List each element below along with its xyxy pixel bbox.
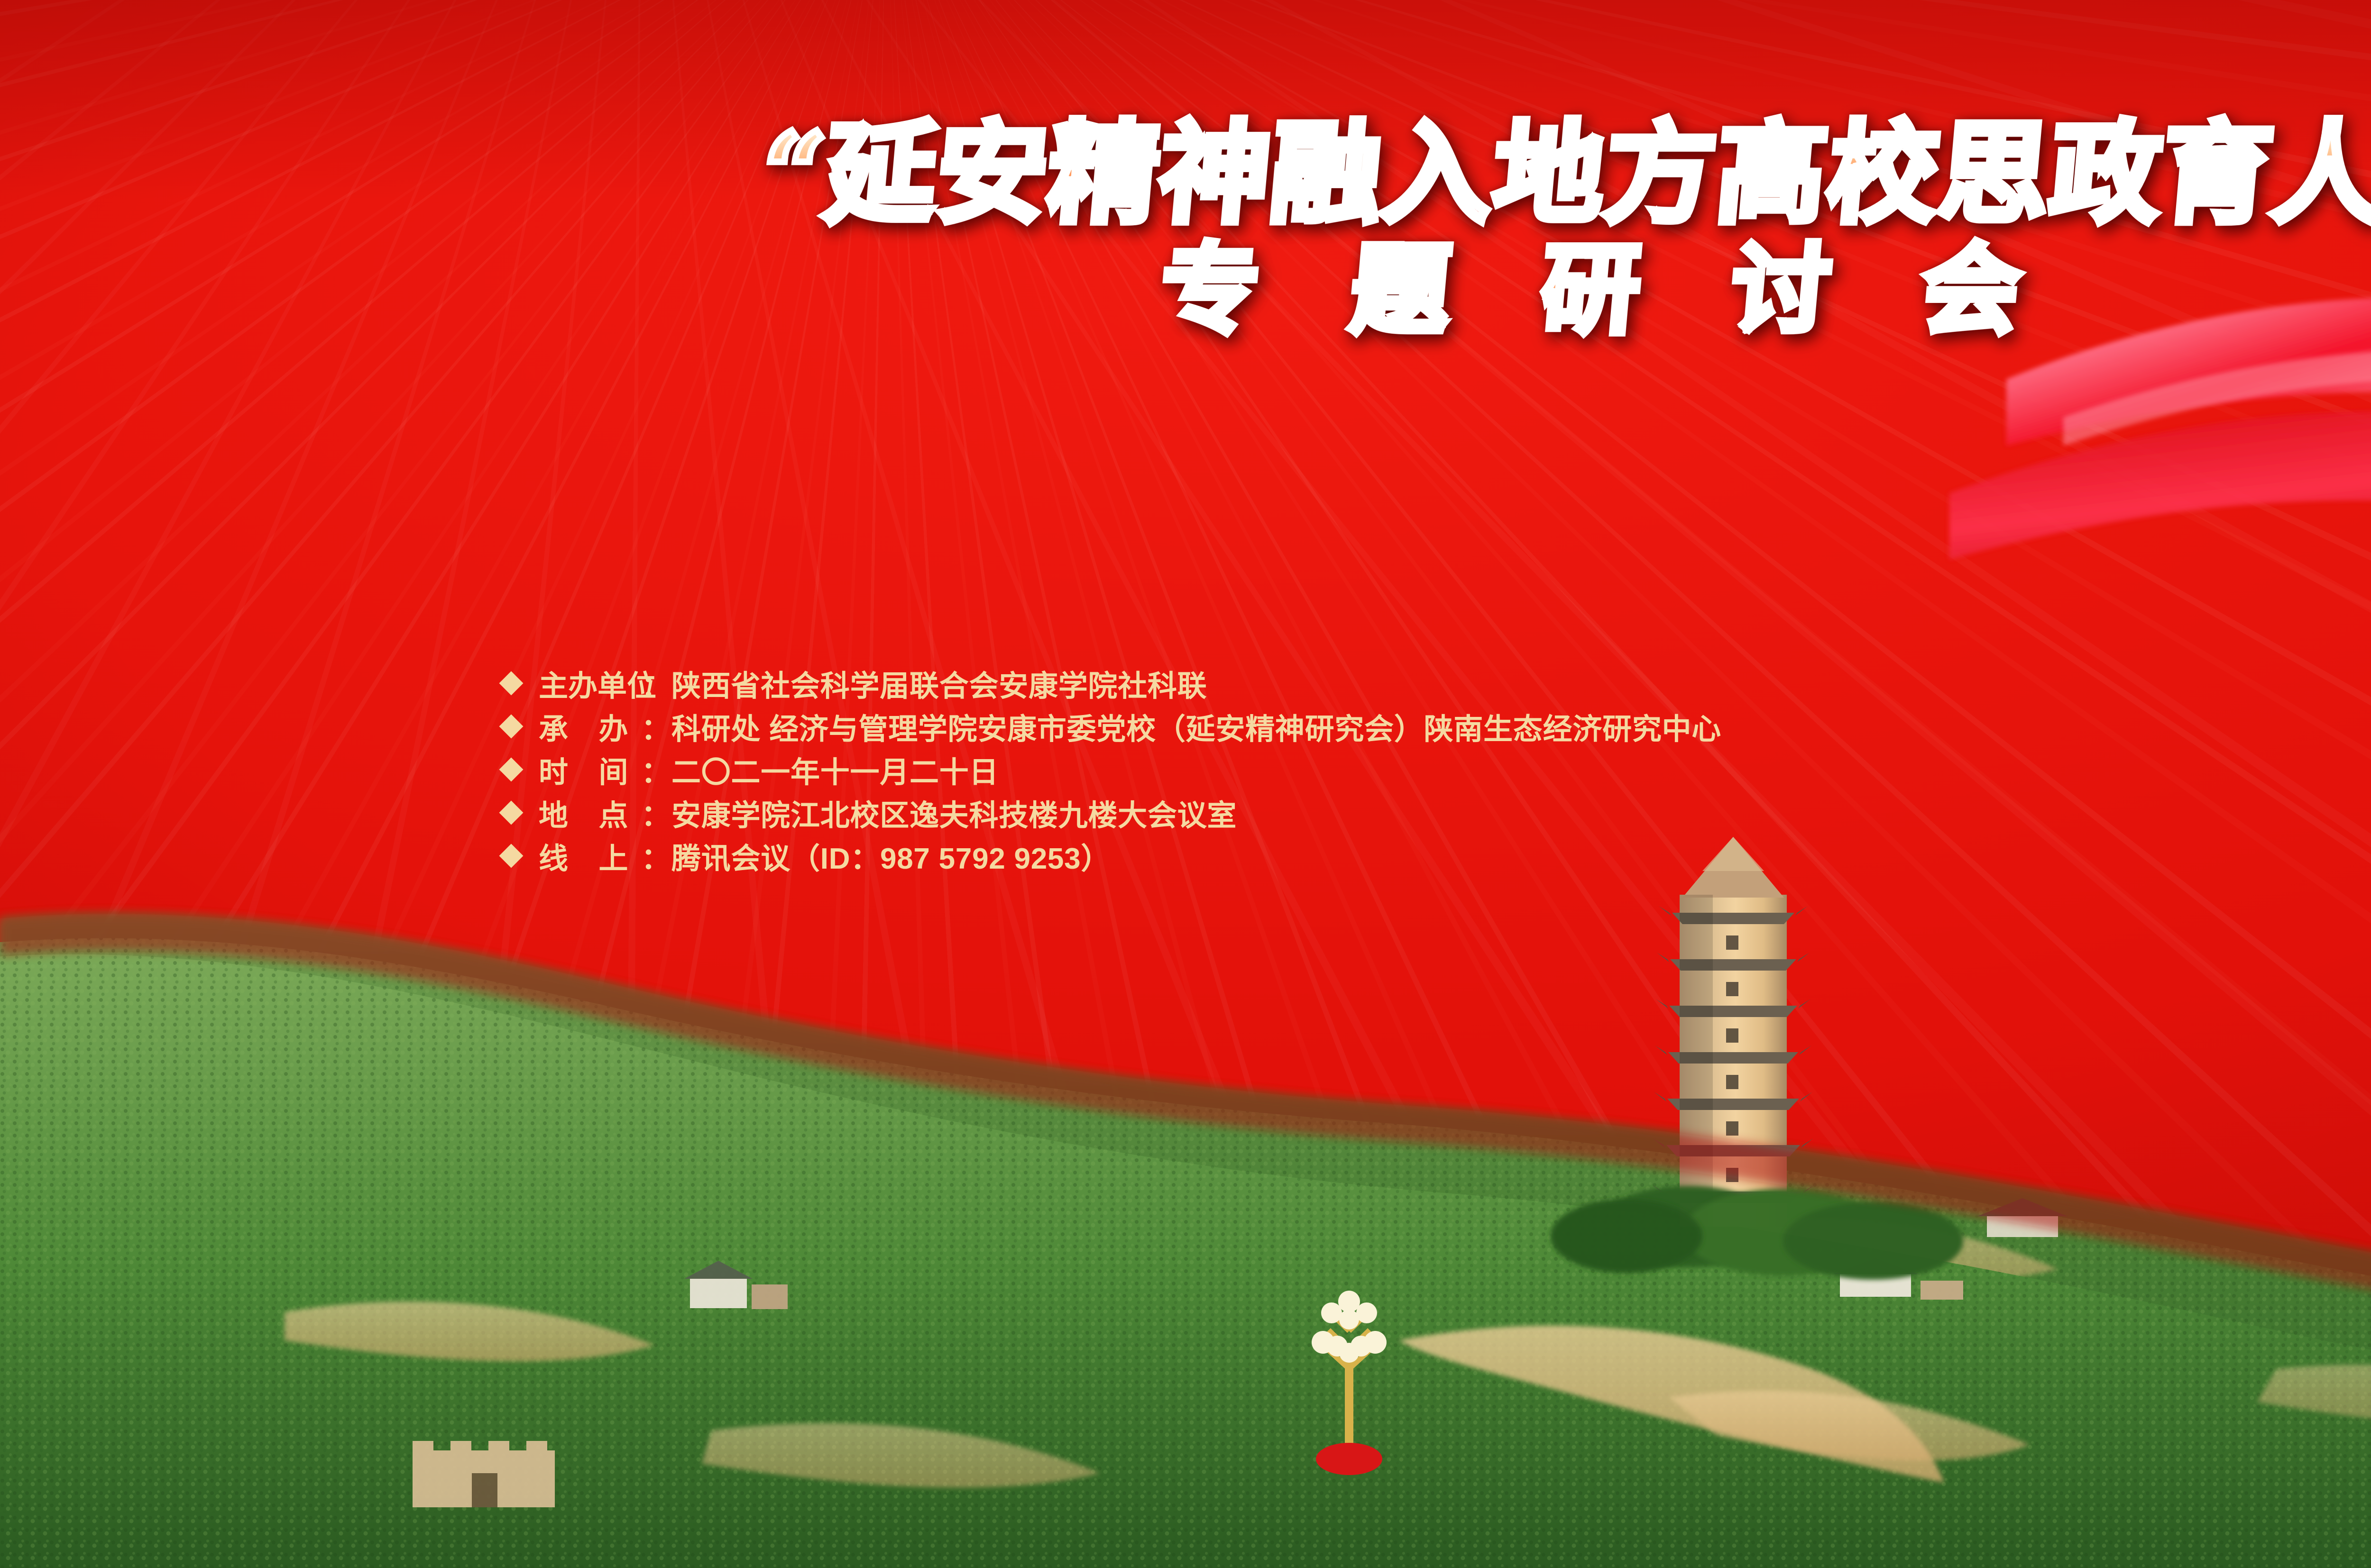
info-value-time: 二〇二一年十一月二十日 bbox=[671, 748, 999, 791]
info-value-host: 科研处 经济与管理学院 bbox=[671, 705, 977, 748]
poster-canvas: “延安精神融入地方高校思政育人” 专 题 研 讨 会 主办单位 ： 陕西省社会科… bbox=[0, 0, 2371, 1568]
info-value-organizer: 陕西省社会科学届联合会 bbox=[671, 662, 999, 705]
info-row-host: 承 办 ： 科研处 经济与管理学院 安康市委党校（延安精神研究会） 陕南生态经济… bbox=[503, 705, 1721, 748]
info-row-venue: 地 点 ： 安康学院江北校区逸夫科技楼九楼大会议室 bbox=[503, 791, 1721, 834]
poster-title-sub: 专 题 研 讨 会 bbox=[0, 241, 2371, 339]
info-label-venue: 地 点 bbox=[539, 791, 638, 834]
info-label-organizer: 主办单位 bbox=[539, 662, 638, 705]
info-row-time: 时 间 ： 二〇二一年十一月二十日 bbox=[503, 748, 1721, 791]
info-value-organizer-2: 安康学院社科联 bbox=[999, 662, 1207, 705]
info-value-online: 腾讯会议（ID：987 5792 9253） bbox=[671, 834, 1111, 877]
diamond-bullet-icon bbox=[499, 844, 524, 868]
info-separator: ： bbox=[641, 662, 671, 705]
poster-title-main: “延安精神融入地方高校思政育人” bbox=[0, 119, 2371, 229]
info-separator: ： bbox=[641, 705, 671, 748]
diamond-bullet-icon bbox=[499, 757, 524, 781]
diamond-bullet-icon bbox=[499, 714, 524, 738]
info-value-venue: 安康学院江北校区逸夫科技楼九楼大会议室 bbox=[671, 791, 1237, 834]
info-label-host: 承 办 bbox=[539, 705, 638, 748]
info-label-online: 线 上 bbox=[539, 834, 638, 877]
info-value-host-3: 陕南生态经济研究中心 bbox=[1424, 705, 1721, 748]
info-value-host-2: 安康市委党校（延安精神研究会） bbox=[977, 705, 1424, 748]
diamond-bullet-icon bbox=[499, 671, 524, 695]
event-info-list: 主办单位 ： 陕西省社会科学届联合会 安康学院社科联 承 办 ： 科研处 经济与… bbox=[503, 661, 1721, 877]
info-separator: ： bbox=[641, 748, 671, 791]
info-row-online: 线 上 ： 腾讯会议（ID：987 5792 9253） bbox=[503, 834, 1721, 877]
info-separator: ： bbox=[641, 791, 671, 834]
info-row-organizer: 主办单位 ： 陕西省社会科学届联合会 安康学院社科联 bbox=[503, 661, 1721, 705]
info-separator: ： bbox=[641, 834, 671, 877]
info-label-time: 时 间 bbox=[539, 748, 638, 791]
diamond-bullet-icon bbox=[499, 800, 524, 825]
poster-title-block: “延安精神融入地方高校思政育人” 专 题 研 讨 会 bbox=[0, 119, 2371, 339]
